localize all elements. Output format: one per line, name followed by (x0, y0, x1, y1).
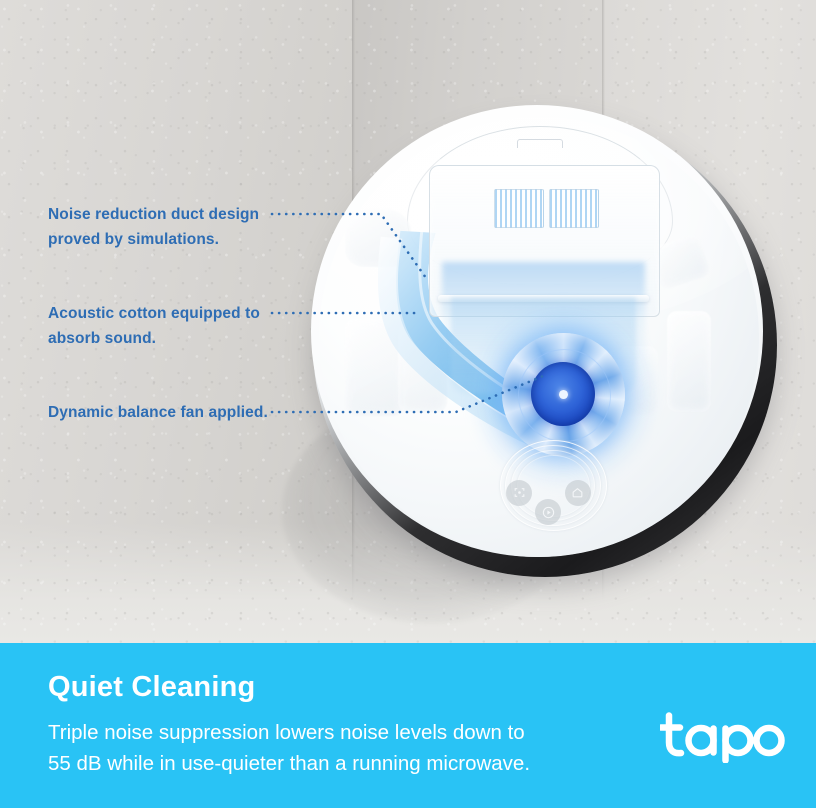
banner-description: Triple noise suppression lowers noise le… (48, 717, 530, 779)
banner-description-line-1: Triple noise suppression lowers noise le… (48, 717, 530, 748)
control-button-cluster (495, 438, 609, 535)
banner-title: Quiet Cleaning (48, 671, 255, 704)
annotation-line-2: absorb sound. (48, 326, 260, 351)
annotation-acoustic-cotton: Acoustic cotton equipped to absorb sound… (48, 301, 260, 351)
product-photo: Noise reduction duct design proved by si… (0, 0, 816, 643)
internal-component-5 (667, 311, 711, 412)
annotation-dynamic-balance-fan: Dynamic balance fan applied. (48, 400, 268, 425)
lid-release-notch (517, 139, 563, 148)
annotation-line-1: Dynamic balance fan applied. (48, 400, 268, 425)
annotation-line-2: proved by simulations. (48, 227, 259, 252)
fan-hub (531, 362, 595, 426)
filter-panel-left (494, 189, 544, 228)
robot-body (319, 117, 759, 557)
tapo-wordmark-icon (660, 705, 790, 763)
banner-description-line-2: 55 dB while in use-quieter than a runnin… (48, 748, 530, 779)
annotation-line-1: Noise reduction duct design (48, 202, 259, 227)
annotation-noise-reduction-duct: Noise reduction duct design proved by si… (48, 202, 259, 252)
home-dock-button[interactable] (565, 480, 591, 506)
feature-banner: Quiet Cleaning Triple noise suppression … (0, 643, 816, 808)
filter-panel-right (549, 189, 599, 228)
spot-clean-icon (513, 486, 526, 499)
home-icon (571, 486, 584, 499)
annotation-line-1: Acoustic cotton equipped to (48, 301, 260, 326)
product-feature-card: Noise reduction duct design proved by si… (0, 0, 816, 808)
robot-vacuum (313, 113, 777, 577)
filter-grille (494, 189, 599, 226)
play-icon (542, 506, 555, 519)
play-pause-button[interactable] (535, 499, 561, 525)
tapo-logo (660, 705, 790, 763)
